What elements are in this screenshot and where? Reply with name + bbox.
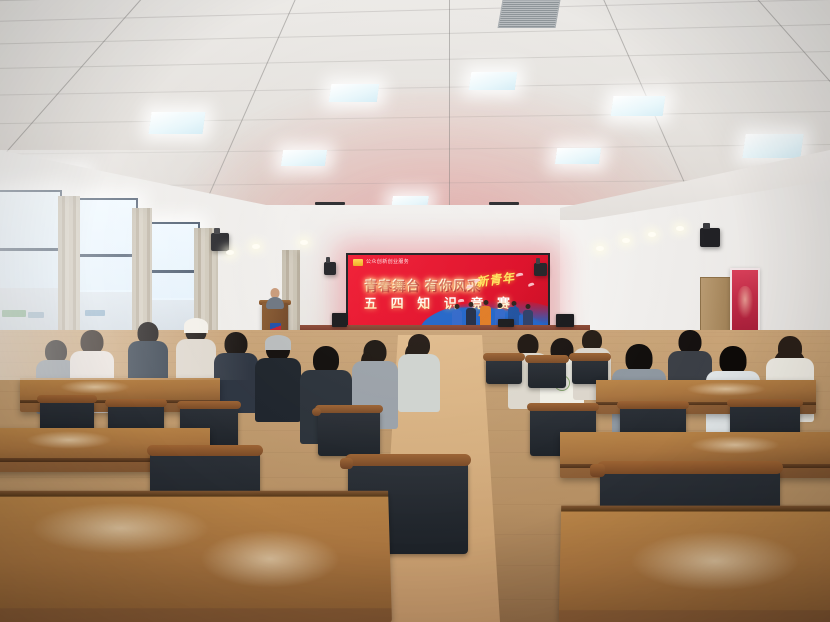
baseball-cap	[184, 318, 208, 333]
attendee-left-9	[398, 334, 440, 414]
chair-armrest	[340, 458, 353, 469]
chair-rail	[525, 355, 569, 363]
meeting-hall-photo: 公众创新创业服务 青春舞台 有你风采 五 四 知 识 竞 赛 新青年	[0, 0, 830, 622]
recessed-downlight	[648, 232, 656, 237]
recessed-downlight	[596, 246, 604, 251]
chair-rail	[527, 403, 599, 411]
desk-surface	[0, 491, 392, 608]
desk-surface	[559, 506, 830, 611]
chair[interactable]	[528, 360, 566, 388]
recessed-downlight	[676, 226, 684, 231]
desk-surface	[560, 432, 830, 464]
desk-foreground-left	[0, 491, 392, 622]
chair-armrest	[312, 408, 321, 416]
chair-rail	[727, 399, 803, 407]
recessed-downlight	[226, 250, 234, 255]
chair[interactable]	[486, 358, 522, 384]
recessed-downlight	[622, 238, 630, 243]
chair-rail	[315, 405, 383, 413]
desk-foreground-right	[559, 506, 830, 622]
person-torso	[398, 354, 440, 412]
chair[interactable]	[318, 410, 380, 456]
chair-rail	[597, 461, 783, 474]
chair-rail	[569, 353, 611, 361]
recessed-downlight	[300, 240, 308, 245]
chair-rail	[177, 401, 241, 409]
recessed-downlight	[252, 244, 260, 249]
chair-rail	[617, 401, 689, 409]
desk-edge	[561, 506, 830, 512]
chair-rail	[147, 445, 263, 456]
chair-rail	[345, 454, 471, 466]
grey-cap	[265, 335, 291, 350]
chair-rail	[105, 399, 167, 407]
attendee-left-6	[255, 336, 301, 424]
person-torso	[255, 358, 301, 422]
chair-rail	[37, 395, 97, 403]
chair-armrest	[590, 464, 605, 477]
desk-edge	[0, 491, 388, 497]
chair-rail	[483, 353, 525, 361]
